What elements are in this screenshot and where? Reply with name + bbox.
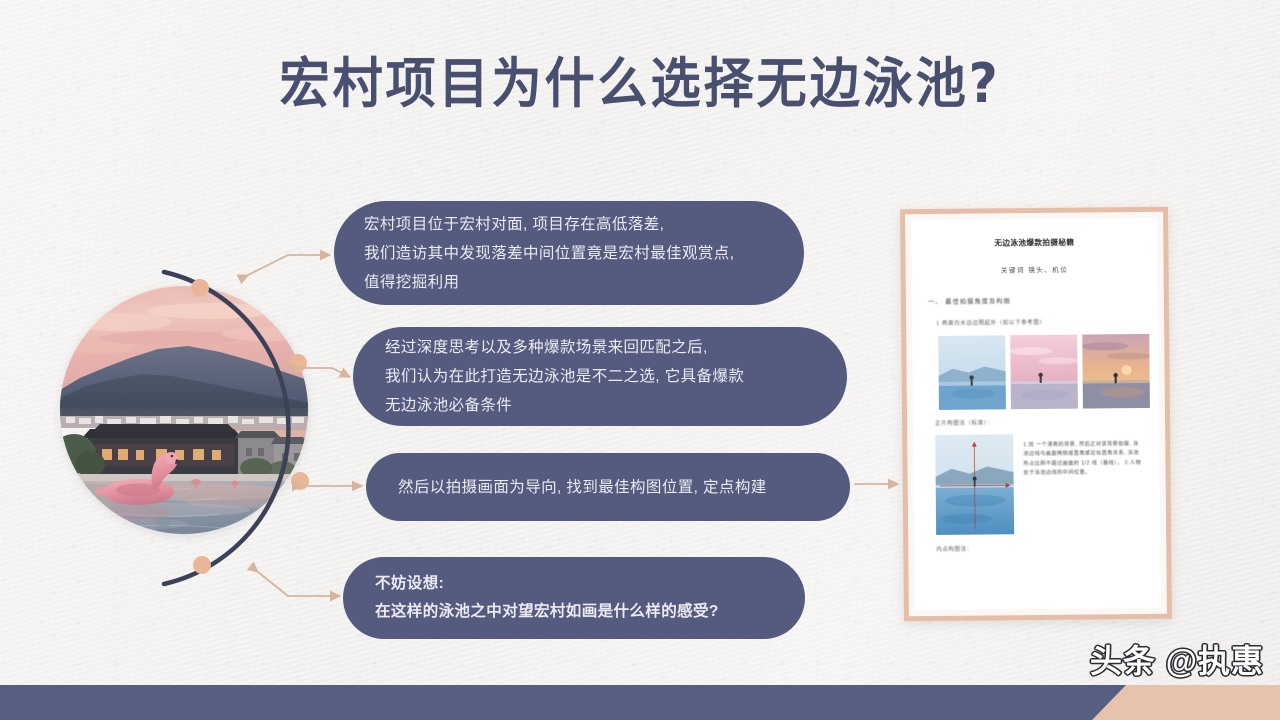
decorative-arc [164,272,288,584]
document-composition-diagram [935,434,1014,535]
arc-dot-3 [291,472,309,490]
bubble-2-line-2: 我们认为在此打造无边泳池是不二之选, 它具备爆款 [385,362,815,391]
document-subheading: 1 两面白水边边照起外（如以下参考图） [928,317,1142,327]
watermark: 头条 @执惠 [1090,636,1264,682]
document-thumb-3 [1082,334,1150,409]
document-thumb-1 [938,335,1006,410]
document-caption-2: 内点构图法： [936,543,1144,553]
bubble-1-line-3: 值得挖掘利用 [364,268,774,297]
page-title: 宏村项目为什么选择无边泳池? [45,52,1235,116]
info-bubble-4[interactable]: 不妨设想: 在这样的泳池之中对望宏村如画是什么样的感受? [343,557,805,639]
document-keywords: 关键词 镜头、机位 [928,264,1142,275]
bottom-decorative-band [0,685,1280,720]
info-bubble-1[interactable]: 宏村项目位于宏村对面, 项目存在高低落差, 我们造访其中发现落差中间位置竟是宏村… [334,201,804,305]
bubble-2-line-1: 经过深度思考以及多种爆款场景来回匹配之后, [385,333,815,362]
document-thumb-2 [1010,335,1078,410]
document-body-text: 1.找 一个漂亮的背景, 然后正对该背景拍摄, 泳池边线与画面两侧成直角或近似直… [1023,433,1144,534]
document-preview-card[interactable]: 无边泳池爆款拍摄秘籍 关键词 镜头、机位 一、 最佳拍摄角度及构图 1 两面白水… [900,207,1172,622]
bubble-1-line-1: 宏村项目位于宏村对面, 项目存在高低落差, [364,210,774,239]
slide-root: 宏村项目为什么选择无边泳池? [0,0,1280,720]
document-diagram-block: 1.找 一个漂亮的背景, 然后正对该背景拍摄, 泳池边线与画面两侧成直角或近似直… [935,433,1144,535]
document-page: 无边泳池爆款拍摄秘籍 关键词 镜头、机位 一、 最佳拍摄角度及构图 1 两面白水… [911,218,1161,610]
document-thumbnail-row [938,334,1143,410]
arc-dot-1 [191,279,209,297]
bubble-1-line-2: 我们造访其中发现落差中间位置竟是宏村最佳观赏点, [364,239,774,268]
info-bubble-2[interactable]: 经过深度思考以及多种爆款场景来回匹配之后, 我们认为在此打造无边泳池是不二之选,… [353,327,847,426]
bubble-3-line-1: 然后以拍摄画面为导向, 找到最佳构图位置, 定点构建 [398,473,818,502]
bubble-2-line-3: 无边泳池必备条件 [385,391,815,420]
document-heading: 一、 最佳拍摄角度及构图 [928,295,1142,306]
bubble-4-line-2: 在这样的泳池之中对望宏村如画是什么样的感受? [375,598,773,626]
info-bubble-3[interactable]: 然后以拍摄画面为导向, 找到最佳构图位置, 定点构建 [366,453,850,521]
photo-group [52,258,320,598]
arc-dot-4 [193,556,211,574]
document-caption-1: 正片构图法（标准）： [935,417,1143,427]
bubble-4-line-1: 不妨设想: [375,570,773,598]
arc-dot-2 [289,354,307,372]
document-title: 无边泳池爆款拍摄秘籍 [927,236,1141,249]
